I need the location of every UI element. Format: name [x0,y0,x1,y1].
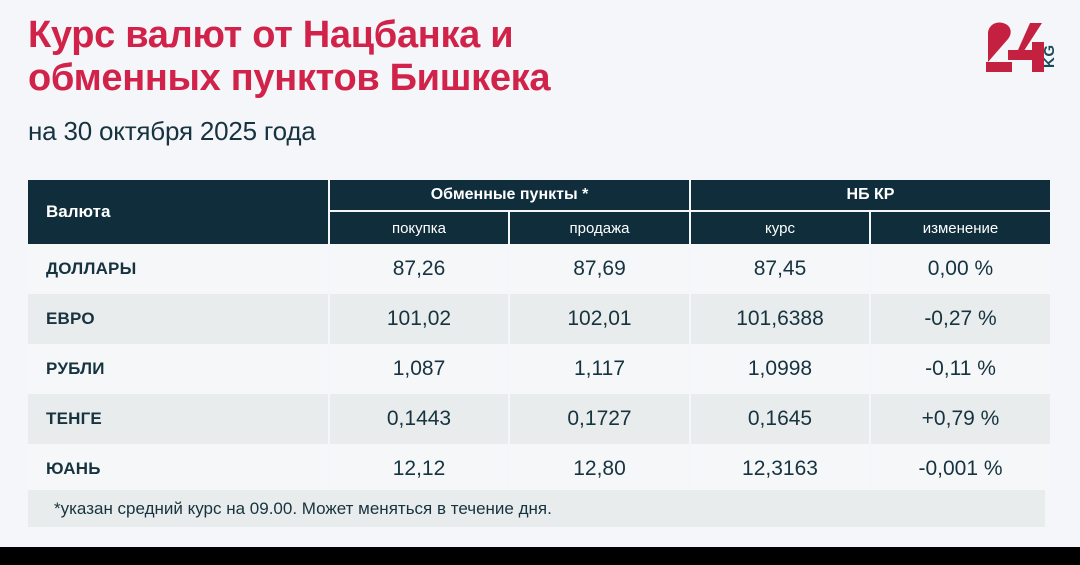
table-body: ДОЛЛАРЫ 87,26 87,69 87,45 0,00 % ЕВРО 10… [28,244,1050,494]
bottom-bar [0,547,1080,565]
column-header-change: изменение [870,211,1050,244]
cell-change: 0,00 % [870,244,1050,294]
cell-currency-name: РУБЛИ [28,344,329,394]
cell-sell: 1,117 [509,344,690,394]
cell-rate: 87,45 [690,244,870,294]
cell-rate: 0,1645 [690,394,870,444]
cell-sell: 12,80 [509,444,690,494]
svg-text:KG: KG [1041,45,1058,69]
cell-currency-name: ЮАНЬ [28,444,329,494]
column-header-currency: Валюта [28,180,329,244]
column-header-buy: покупка [329,211,509,244]
cell-buy: 0,1443 [329,394,509,444]
cell-buy: 87,26 [329,244,509,294]
column-group-exchange-points: Обменные пункты * [329,180,690,211]
table-header-row-groups: Валюта Обменные пункты * НБ КР [28,180,1050,211]
cell-rate: 1,0998 [690,344,870,394]
page-title: Курс валют от Нацбанка и обменных пункто… [28,14,728,100]
cell-sell: 87,69 [509,244,690,294]
column-header-sell: продажа [509,211,690,244]
cell-change: +0,79 % [870,394,1050,444]
cell-change: -0,001 % [870,444,1050,494]
cell-sell: 102,01 [509,294,690,344]
cell-buy: 12,12 [329,444,509,494]
column-header-rate: курс [690,211,870,244]
cell-buy: 101,02 [329,294,509,344]
cell-buy: 1,087 [329,344,509,394]
table-row: ТЕНГЕ 0,1443 0,1727 0,1645 +0,79 % [28,394,1050,444]
cell-currency-name: ЕВРО [28,294,329,344]
currency-rates-table: Валюта Обменные пункты * НБ КР покупка п… [28,180,1050,494]
table-row: ЕВРО 101,02 102,01 101,6388 -0,27 % [28,294,1050,344]
logo-kg-text: KG [1041,45,1058,69]
cell-sell: 0,1727 [509,394,690,444]
cell-rate: 12,3163 [690,444,870,494]
cell-change: -0,11 % [870,344,1050,394]
logo-24-icon [986,22,1044,72]
column-group-national-bank: НБ КР [690,180,1050,211]
brand-logo-24kg: KG [978,20,1062,78]
table-footnote: *указан средний курс на 09.00. Может мен… [28,490,1045,527]
page-subtitle: на 30 октября 2025 года [28,116,1060,147]
footnote-text: *указан средний курс на 09.00. Может мен… [28,499,552,519]
table-row: РУБЛИ 1,087 1,117 1,0998 -0,11 % [28,344,1050,394]
cell-change: -0,27 % [870,294,1050,344]
table-row: ДОЛЛАРЫ 87,26 87,69 87,45 0,00 % [28,244,1050,294]
table-header: Валюта Обменные пункты * НБ КР покупка п… [28,180,1050,244]
cell-currency-name: ТЕНГЕ [28,394,329,444]
table-row: ЮАНЬ 12,12 12,80 12,3163 -0,001 % [28,444,1050,494]
cell-rate: 101,6388 [690,294,870,344]
page-header: Курс валют от Нацбанка и обменных пункто… [28,14,1060,147]
rates-table-container: Валюта Обменные пункты * НБ КР покупка п… [28,180,1050,494]
cell-currency-name: ДОЛЛАРЫ [28,244,329,294]
